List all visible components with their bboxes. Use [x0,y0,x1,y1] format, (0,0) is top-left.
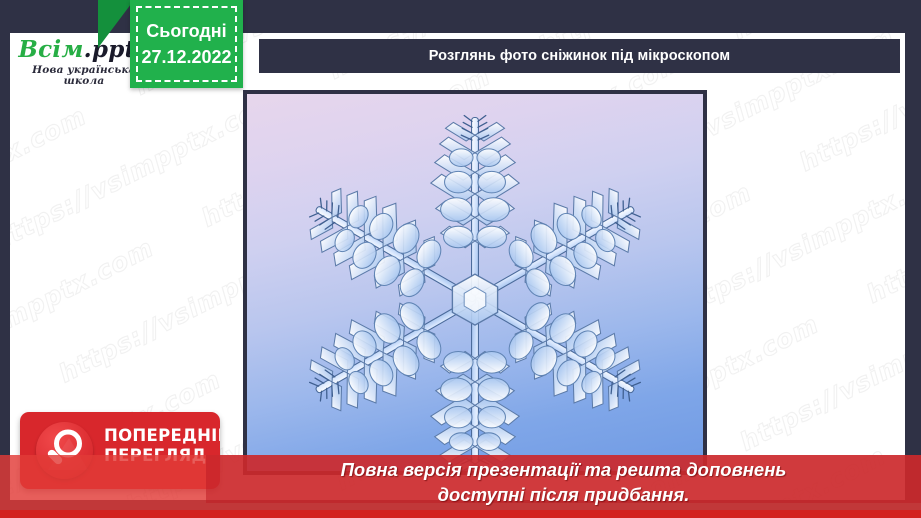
purchase-notice-line1: Повна версія презентації та решта доповн… [341,458,787,482]
date-badge-date: 27.12.2022 [130,44,243,70]
snowflake-photo[interactable] [243,90,707,475]
watermark-text: https://vsimpptx.com [10,233,158,404]
date-badge: Сьогодні 27.12.2022 [130,0,243,88]
slide-title-bar: Розглянь фото сніжинок під мікроскопом [259,39,900,73]
purchase-notice-text: Повна версія презентації та решта доповн… [206,455,921,510]
brand-name-dot: . [84,36,92,63]
bottom-accent-bar [0,510,921,518]
watermark-text: https://vsimpptx.com [10,101,91,272]
brand-name-first: Всім [18,36,83,63]
presentation-viewer: https://vsimpptx.comhttps://vsimpptx.com… [0,0,921,518]
date-ribbon-fold [98,0,134,48]
purchase-notice-line2: доступні після придбання. [438,483,690,507]
watermark-text: https://vsimpptx.com [862,138,905,309]
preview-badge-line1: ПОПЕРЕДНІЙ [104,426,214,446]
snowflake-illustration [247,94,703,471]
watermark-text: https://vsimpptx.com [735,285,905,456]
date-badge-label: Сьогодні [130,18,243,44]
slide-title: Розглянь фото сніжинок під мікроскопом [429,48,730,64]
